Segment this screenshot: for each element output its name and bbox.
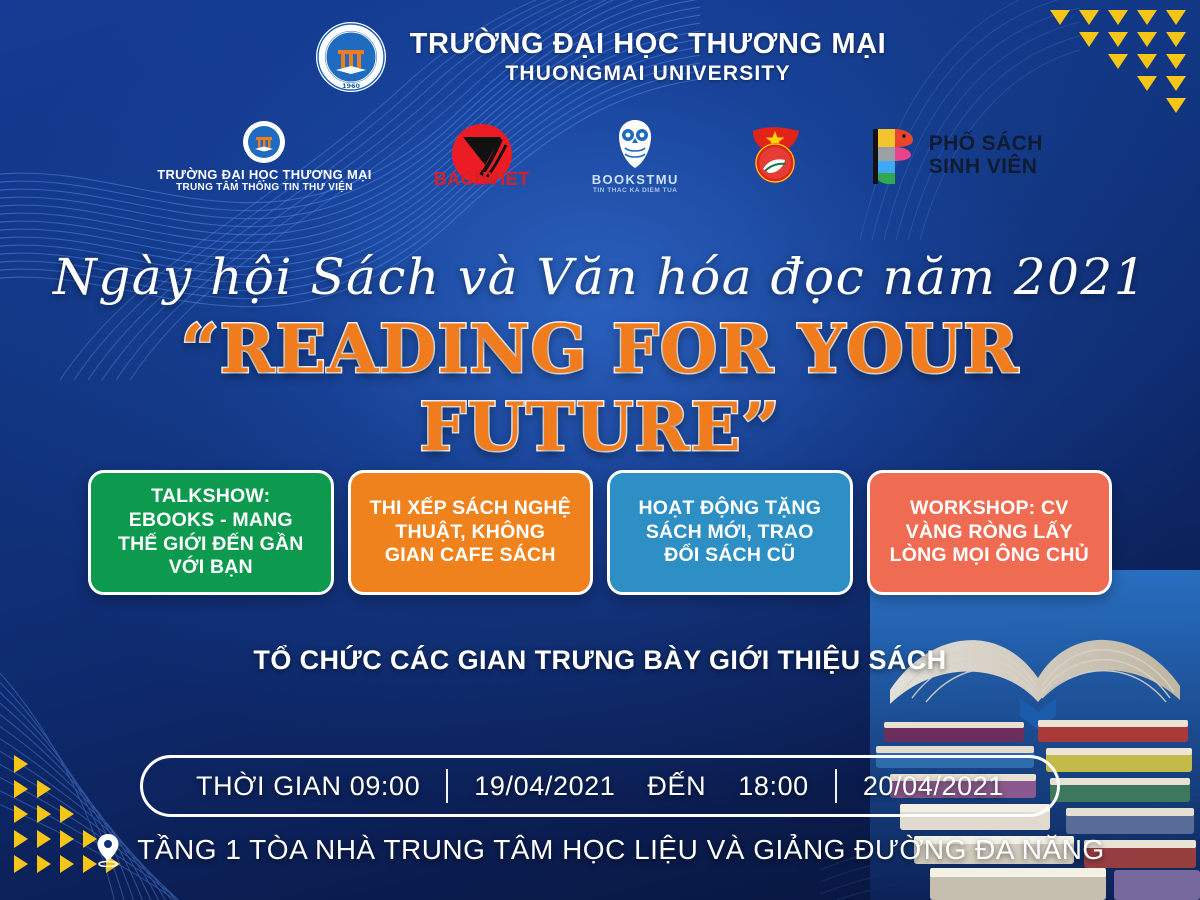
activity-card-list: TALKSHOW: EBOOKS - MANG THẾ GIỚI ĐẾN GẦN… [88,470,1112,595]
partner-ps-line2: SINH VIÊN [929,156,1043,179]
partner-bookstmu-tagline: TIN THAC KA DIEM TUA [593,187,678,194]
poster-canvas: 1960 TRƯỜNG ĐẠI HỌC THƯƠNG MẠI THUONGMAI… [0,0,1200,900]
triangle-icon [14,805,28,823]
partner-library-line1: TRƯỜNG ĐẠI HỌC THƯƠNG MẠI [157,167,371,182]
university-title-block: TRƯỜNG ĐẠI HỌC THƯƠNG MẠI THUONGMAI UNIV… [410,28,887,86]
partner-bookstmu-label: BOOKSTMU [592,172,679,187]
owl-icon [611,118,659,172]
time-divider [835,769,837,803]
event-script-title: Ngày hội Sách và Văn hóa đọc năm 2021 [0,248,1200,306]
poster-header: 1960 TRƯỜNG ĐẠI HỌC THƯƠNG MẠI THUONGMAI… [0,20,1200,94]
partner-pho-sach-sinh-vien: PHỐ SÁCH SINH VIÊN [871,127,1043,185]
partner-bookstmu: BOOKSTMU TIN THAC KA DIEM TUA [592,118,679,194]
time-end-date: 20/04/2021 [847,771,1020,802]
university-name-en: THUONGMAI UNIVERSITY [410,61,887,86]
time-label: THỜI GIAN 09:00 [180,771,436,802]
triangle-icon [60,805,74,823]
event-slogan: “READING FOR YOUR FUTURE” [0,310,1200,466]
activity-card[interactable]: HOẠT ĐỘNG TẶNG SÁCH MỚI, TRAO ĐỔI SÁCH C… [607,470,853,595]
time-end-time: 18:00 [722,771,825,802]
partner-bachviet: BACHVIET [434,123,530,190]
university-name: TRƯỜNG ĐẠI HỌC THƯƠNG MẠI [410,28,887,60]
time-divider [446,769,448,803]
triangle-icon [1166,98,1186,113]
parrot-icon [871,127,917,185]
partner-ps-label-block: PHỐ SÁCH SINH VIÊN [929,133,1043,178]
activity-card[interactable]: TALKSHOW: EBOOKS - MANG THẾ GIỚI ĐẾN GẦN… [88,470,334,595]
event-location: TẦNG 1 TÒA NHÀ TRUNG TÂM HỌC LIỆU VÀ GIẢ… [0,833,1200,867]
triangle-icon [37,805,51,823]
university-seal-icon: 1960 [314,20,388,94]
event-time-bar: THỜI GIAN 09:00 19/04/2021 ĐẾN 18:00 20/… [140,755,1060,817]
partner-youth-union [741,125,809,187]
location-text: TẦNG 1 TÒA NHÀ TRUNG TÂM HỌC LIỆU VÀ GIẢ… [137,834,1104,866]
triangle-icon [37,780,51,798]
youth-union-emblem-icon [741,125,809,187]
library-seal-icon [242,120,286,164]
svg-text:1960: 1960 [342,82,361,90]
partner-library-center: TRƯỜNG ĐẠI HỌC THƯƠNG MẠI TRUNG TÂM THÔN… [157,120,371,193]
activity-card[interactable]: WORKSHOP: CV VÀNG RÒNG LẤY LÒNG MỌI ÔNG … [867,470,1113,595]
time-start-date: 19/04/2021 [458,771,631,802]
partner-ps-line1: PHỐ SÁCH [929,133,1043,156]
triangle-icon [14,755,28,773]
partner-library-line2: TRUNG TÂM THÔNG TIN THƯ VIỆN [176,182,353,193]
triangle-icon [14,780,28,798]
map-pin-icon [95,833,121,867]
exhibition-line: TỔ CHỨC CÁC GIAN TRƯNG BÀY GIỚI THIỆU SÁ… [0,645,1200,676]
partner-bachviet-label: BACHVIET [434,169,530,190]
time-connector: ĐẾN [631,771,722,802]
activity-card[interactable]: THI XẾP SÁCH NGHỆ THUẬT, KHÔNG GIAN CAFE… [348,470,594,595]
partner-logo-row: TRƯỜNG ĐẠI HỌC THƯƠNG MẠI TRUNG TÂM THÔN… [0,118,1200,194]
